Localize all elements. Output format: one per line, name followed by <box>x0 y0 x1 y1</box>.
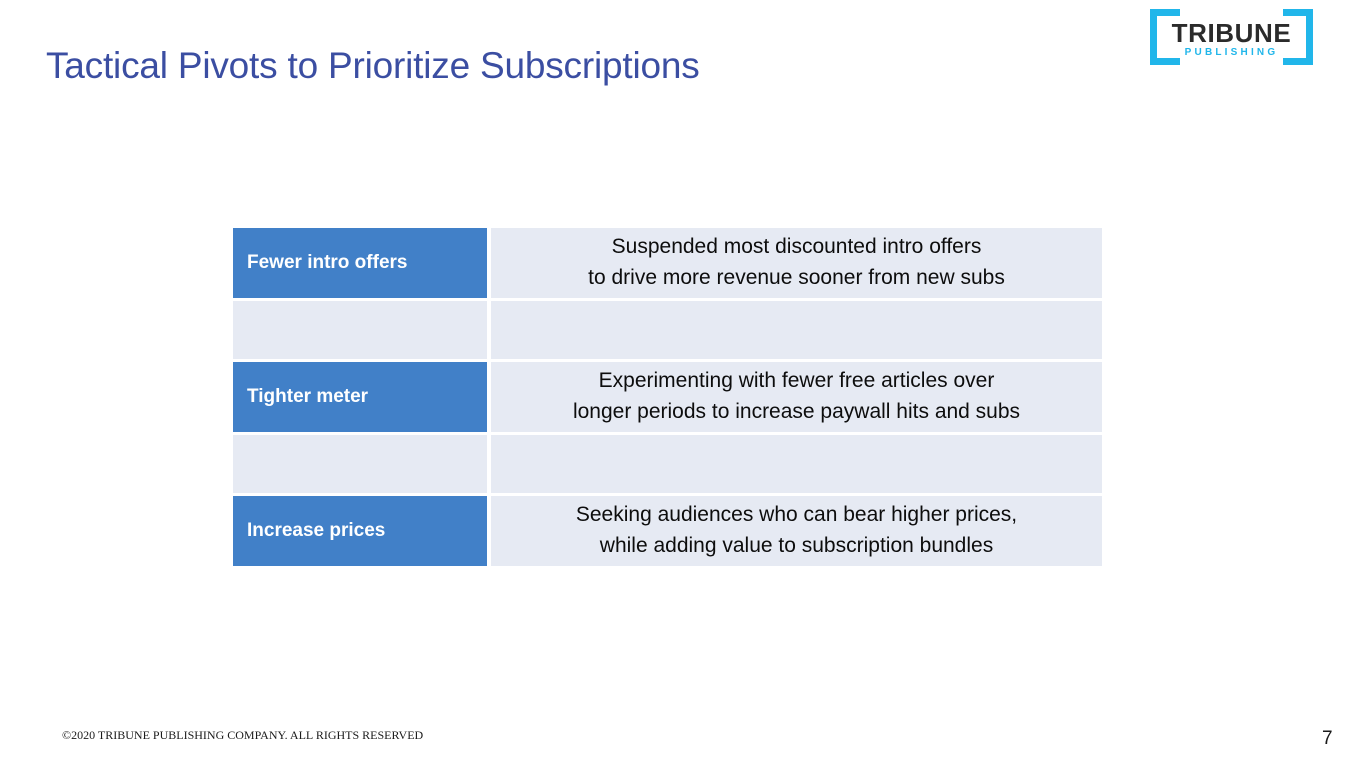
table-row-spacer <box>233 435 1102 493</box>
tribune-publishing-logo: TRIBUNE PUBLISHING <box>1150 9 1313 65</box>
row-label-cell <box>233 435 487 493</box>
row-body-line: longer periods to increase paywall hits … <box>573 397 1020 428</box>
slide-canvas: Tactical Pivots to Prioritize Subscripti… <box>0 0 1366 768</box>
row-label-cell: Tighter meter <box>233 362 487 432</box>
page-title: Tactical Pivots to Prioritize Subscripti… <box>46 44 700 88</box>
row-label-cell: Increase prices <box>233 496 487 566</box>
row-body-line: to drive more revenue sooner from new su… <box>588 263 1005 294</box>
row-body-line: Experimenting with fewer free articles o… <box>599 366 995 397</box>
page-number: 7 <box>1322 728 1333 750</box>
tactical-pivots-table: Fewer intro offers Suspended most discou… <box>233 228 1102 566</box>
table-row: Tighter meter Experimenting with fewer f… <box>233 362 1102 432</box>
row-body-line: while adding value to subscription bundl… <box>600 531 993 562</box>
row-body-cell <box>491 301 1102 359</box>
row-label-cell <box>233 301 487 359</box>
logo-subword: PUBLISHING <box>1150 48 1313 58</box>
row-body-line: Suspended most discounted intro offers <box>612 232 982 263</box>
row-body-cell <box>491 435 1102 493</box>
row-label-cell: Fewer intro offers <box>233 228 487 298</box>
row-body-cell: Suspended most discounted intro offers t… <box>491 228 1102 298</box>
table-row: Increase prices Seeking audiences who ca… <box>233 496 1102 566</box>
table-row-spacer <box>233 301 1102 359</box>
table-row: Fewer intro offers Suspended most discou… <box>233 228 1102 298</box>
row-body-cell: Experimenting with fewer free articles o… <box>491 362 1102 432</box>
row-body-line: Seeking audiences who can bear higher pr… <box>576 500 1017 531</box>
copyright-notice: ©2020 TRIBUNE PUBLISHING COMPANY. ALL RI… <box>62 728 423 743</box>
logo-wordmark: TRIBUNE <box>1150 20 1313 46</box>
row-body-cell: Seeking audiences who can bear higher pr… <box>491 496 1102 566</box>
